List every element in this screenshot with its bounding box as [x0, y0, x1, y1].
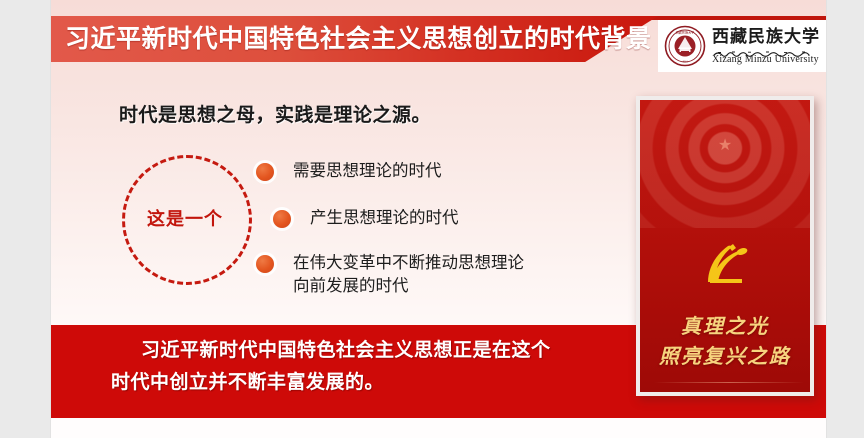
poster-image: ★ 真理之光 照亮复兴之路 从党的二十大: [636, 96, 814, 396]
poster-title-line-1: 真理之光: [640, 312, 810, 342]
university-name-cn: 西藏民族大学: [712, 28, 820, 45]
conclusion-line-2: 时代中创立并不断丰富发展的。: [111, 367, 611, 399]
headline-text: 时代是思想之母，实践是理论之源。: [119, 100, 431, 127]
bullet-text: 在伟大变革中不断推动思想理论 向前发展的时代: [293, 252, 524, 298]
poster-title-line-2: 照亮复兴之路: [640, 342, 810, 372]
svg-text:西藏民族大学: 西藏民族大学: [676, 29, 695, 34]
presentation-slide: 习近平新时代中国特色社会主义思想创立的时代背景 西藏民族大学 1941 西藏民族…: [51, 0, 826, 438]
poster-subtitle-line-1: 从党的二十大: [640, 392, 810, 396]
university-logo-text: 西藏民族大学 Xizang Minzu University: [712, 28, 820, 65]
bullet-item: 在伟大变革中不断推动思想理论 向前发展的时代: [256, 252, 524, 298]
bullet-dot-icon: [273, 210, 291, 228]
five-pointed-star-icon: ★: [718, 138, 732, 154]
slide-title: 习近平新时代中国特色社会主义思想创立的时代背景: [65, 16, 652, 62]
radiating-rays-graphic: [636, 96, 814, 228]
bullet-text: 需要思想理论的时代: [293, 160, 442, 183]
poster-title: 真理之光 照亮复兴之路: [640, 312, 810, 372]
university-seal-icon: 西藏民族大学 1941: [664, 25, 706, 67]
bullet-text: 产生思想理论的时代: [310, 207, 459, 230]
bullet-item: 需要思想理论的时代: [256, 160, 442, 183]
poster-subtitle: 从党的二十大 看实现马克思主义中国化时代化 新的飞跃: [640, 392, 810, 396]
university-logo: 西藏民族大学 1941 西藏民族大学 Xizang Minzu Universi…: [658, 20, 826, 72]
bullet-item: 产生思想理论的时代: [273, 207, 459, 230]
conclusion-text: 习近平新时代中国特色社会主义思想正是在这个 时代中创立并不断丰富发展的。: [111, 335, 611, 399]
svg-text:1941: 1941: [682, 60, 688, 63]
poster-divider: [654, 382, 804, 383]
hammer-and-sickle-icon: [698, 240, 752, 286]
circle-label: 这是一个: [135, 205, 235, 231]
tibetan-script-icon: [712, 46, 820, 54]
conclusion-line-1: 习近平新时代中国特色社会主义思想正是在这个: [111, 335, 611, 367]
bullet-dot-icon: [256, 255, 274, 273]
university-name-en: Xizang Minzu University: [712, 55, 820, 65]
bullet-dot-icon: [256, 163, 274, 181]
slide-viewer: 习近平新时代中国特色社会主义思想创立的时代背景 西藏民族大学 1941 西藏民族…: [0, 0, 864, 438]
